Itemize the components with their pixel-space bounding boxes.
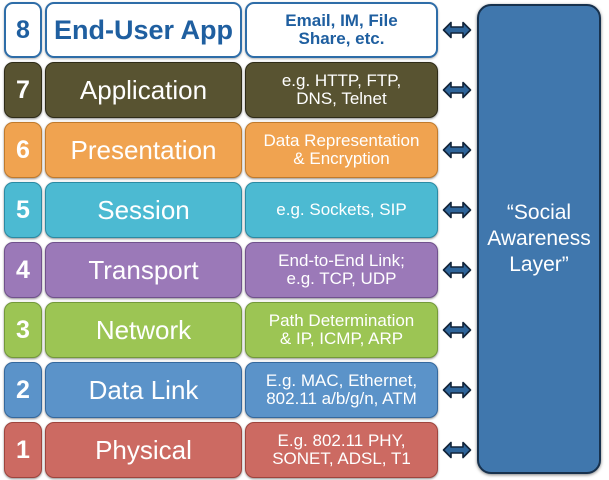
- layer-examples-line: Path Determination: [269, 312, 415, 330]
- layer-row-end-user-app: 8End-User AppEmail, IM, FileShare, etc.: [0, 0, 477, 60]
- social-awareness-layer-panel[interactable]: “SocialAwarenessLayer”: [477, 4, 601, 474]
- layer-number-1: 1: [4, 422, 42, 478]
- double-headed-arrow-icon: [440, 420, 474, 480]
- double-headed-arrow-icon: [440, 240, 474, 300]
- layer-row-data-link: 2Data LinkE.g. MAC, Ethernet,802.11 a/b/…: [0, 360, 477, 420]
- layer-examples-line: Email, IM, File: [285, 12, 397, 30]
- layer-examples-4: End-to-End Link;e.g. TCP, UDP: [245, 242, 438, 298]
- layer-name-4[interactable]: Transport: [45, 242, 242, 298]
- layer-stack: 8End-User AppEmail, IM, FileShare, etc.7…: [0, 0, 477, 480]
- layer-row-presentation: 6PresentationData Representation& Encryp…: [0, 120, 477, 180]
- double-headed-arrow-icon: [440, 360, 474, 420]
- layer-examples-8: Email, IM, FileShare, etc.: [245, 2, 438, 58]
- layer-name-6[interactable]: Presentation: [45, 122, 242, 178]
- double-headed-arrow-icon: [440, 120, 474, 180]
- layer-row-application: 7Applicatione.g. HTTP, FTP,DNS, Telnet: [0, 60, 477, 120]
- social-awareness-layer-line: Layer”: [487, 252, 591, 278]
- layer-examples-7: e.g. HTTP, FTP,DNS, Telnet: [245, 62, 438, 118]
- layer-number-2: 2: [4, 362, 42, 418]
- layer-name-3[interactable]: Network: [45, 302, 242, 358]
- layer-examples-3: Path Determination& IP, ICMP, ARP: [245, 302, 438, 358]
- layer-row-physical: 1PhysicalE.g. 802.11 PHY,SONET, ADSL, T1: [0, 420, 477, 480]
- layer-name-8[interactable]: End-User App: [45, 2, 242, 58]
- layer-number-8: 8: [4, 2, 42, 58]
- layer-examples-line: e.g. TCP, UDP: [278, 270, 405, 288]
- layer-examples-line: SONET, ADSL, T1: [272, 450, 411, 468]
- layer-row-network: 3NetworkPath Determination& IP, ICMP, AR…: [0, 300, 477, 360]
- osi-social-awareness-diagram: 8End-User AppEmail, IM, FileShare, etc.7…: [0, 0, 609, 480]
- layer-examples-5: e.g. Sockets, SIP: [245, 182, 438, 238]
- layer-number-6: 6: [4, 122, 42, 178]
- layer-number-4: 4: [4, 242, 42, 298]
- layer-examples-line: E.g. MAC, Ethernet,: [266, 372, 417, 390]
- layer-examples-line: Data Representation: [264, 132, 420, 150]
- layer-examples-2: E.g. MAC, Ethernet,802.11 a/b/g/n, ATM: [245, 362, 438, 418]
- double-headed-arrow-icon: [440, 300, 474, 360]
- layer-name-7[interactable]: Application: [45, 62, 242, 118]
- double-headed-arrow-icon: [440, 180, 474, 240]
- layer-examples-line: Share, etc.: [285, 30, 397, 48]
- social-awareness-layer-line: “Social: [487, 200, 591, 226]
- layer-name-1[interactable]: Physical: [45, 422, 242, 478]
- layer-number-7: 7: [4, 62, 42, 118]
- double-headed-arrow-icon: [440, 60, 474, 120]
- layer-examples-6: Data Representation& Encryption: [245, 122, 438, 178]
- double-headed-arrow-icon: [440, 0, 474, 60]
- layer-examples-line: e.g. Sockets, SIP: [276, 201, 406, 219]
- layer-row-session: 5Sessione.g. Sockets, SIP: [0, 180, 477, 240]
- social-awareness-layer-label: “SocialAwarenessLayer”: [481, 200, 597, 279]
- layer-row-transport: 4TransportEnd-to-End Link;e.g. TCP, UDP: [0, 240, 477, 300]
- layer-examples-line: & IP, ICMP, ARP: [269, 330, 415, 348]
- layer-number-5: 5: [4, 182, 42, 238]
- social-awareness-layer-line: Awareness: [487, 226, 591, 252]
- layer-examples-line: DNS, Telnet: [282, 90, 401, 108]
- layer-examples-line: End-to-End Link;: [278, 252, 405, 270]
- layer-examples-line: & Encryption: [264, 150, 420, 168]
- layer-number-3: 3: [4, 302, 42, 358]
- layer-examples-1: E.g. 802.11 PHY,SONET, ADSL, T1: [245, 422, 438, 478]
- layer-examples-line: E.g. 802.11 PHY,: [272, 432, 411, 450]
- layer-examples-line: e.g. HTTP, FTP,: [282, 72, 401, 90]
- layer-name-5[interactable]: Session: [45, 182, 242, 238]
- layer-name-2[interactable]: Data Link: [45, 362, 242, 418]
- layer-examples-line: 802.11 a/b/g/n, ATM: [266, 390, 417, 408]
